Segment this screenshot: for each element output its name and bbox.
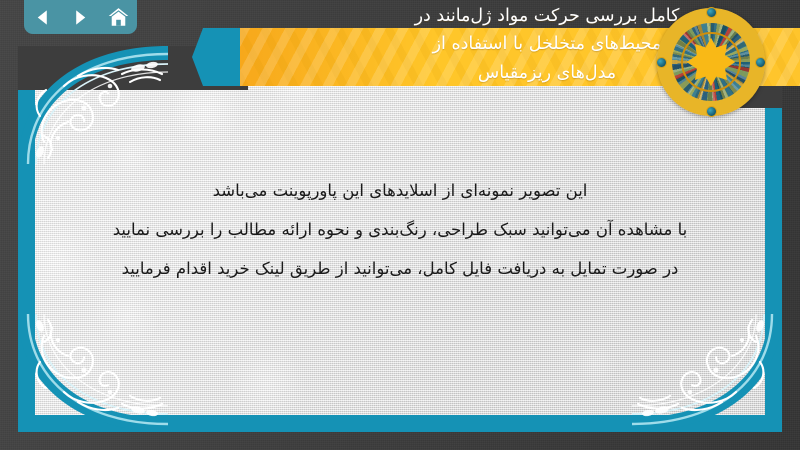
medallion-stud-bottom [706, 106, 717, 117]
medallion-stud-right [755, 57, 766, 68]
body-line-2: با مشاهده آن می‌توانید سبک طراحی، رنگ‌بن… [54, 211, 746, 250]
triangle-left-icon [33, 8, 52, 27]
body-line-1: این تصویر نمونه‌ای از اسلایدهای این پاور… [54, 172, 746, 211]
slide-frame: این تصویر نمونه‌ای از اسلایدهای این پاور… [18, 46, 782, 432]
previous-slide-button[interactable] [28, 4, 58, 30]
slide-preview-window: این تصویر نمونه‌ای از اسلایدهای این پاور… [0, 0, 800, 450]
home-icon [108, 7, 129, 28]
medallion-stud-left [656, 57, 667, 68]
medallion-stud-top [706, 7, 717, 18]
navigation-bar [24, 0, 137, 34]
slide-body-text: این تصویر نمونه‌ای از اسلایدهای این پاور… [54, 172, 746, 288]
triangle-right-icon [71, 8, 90, 27]
next-slide-button[interactable] [65, 4, 95, 30]
body-line-3: در صورت تمایل به دریافت فایل کامل، می‌تو… [54, 250, 746, 289]
home-button[interactable] [103, 4, 133, 30]
persian-medallion-ornament [657, 8, 765, 116]
